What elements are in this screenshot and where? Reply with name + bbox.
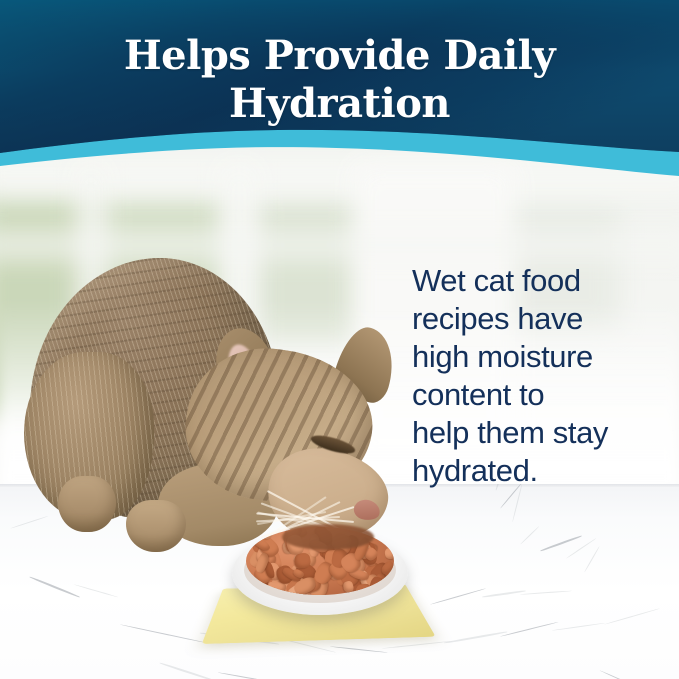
marble-vein xyxy=(552,622,606,631)
marble-vein xyxy=(74,584,118,598)
food-chunk xyxy=(384,532,394,546)
marble-vein xyxy=(330,646,388,653)
marble-vein xyxy=(520,590,572,595)
cat-paw-front-left xyxy=(58,476,116,532)
marble-vein xyxy=(29,576,80,598)
marble-vein xyxy=(218,672,267,679)
marble-vein xyxy=(520,526,539,545)
wet-cat-food-shadow xyxy=(282,524,374,550)
callout-text: Wet cat food recipes have high moisture … xyxy=(412,262,662,490)
marble-vein xyxy=(584,546,600,572)
marble-vein xyxy=(604,608,660,625)
marble-vein xyxy=(566,538,596,559)
marble-vein xyxy=(430,588,486,605)
marble-vein xyxy=(444,631,507,644)
cat-paw-front-right xyxy=(126,500,186,552)
cat-illustration xyxy=(18,232,438,562)
marble-vein xyxy=(120,624,208,644)
marble-vein xyxy=(500,621,558,636)
food-chunk xyxy=(384,547,394,560)
marble-vein xyxy=(160,662,218,679)
marble-vein xyxy=(540,535,582,552)
marble-vein xyxy=(382,641,452,649)
promo-image-canvas: Wet cat food recipes have high moisture … xyxy=(0,0,679,679)
marble-vein xyxy=(600,670,648,679)
